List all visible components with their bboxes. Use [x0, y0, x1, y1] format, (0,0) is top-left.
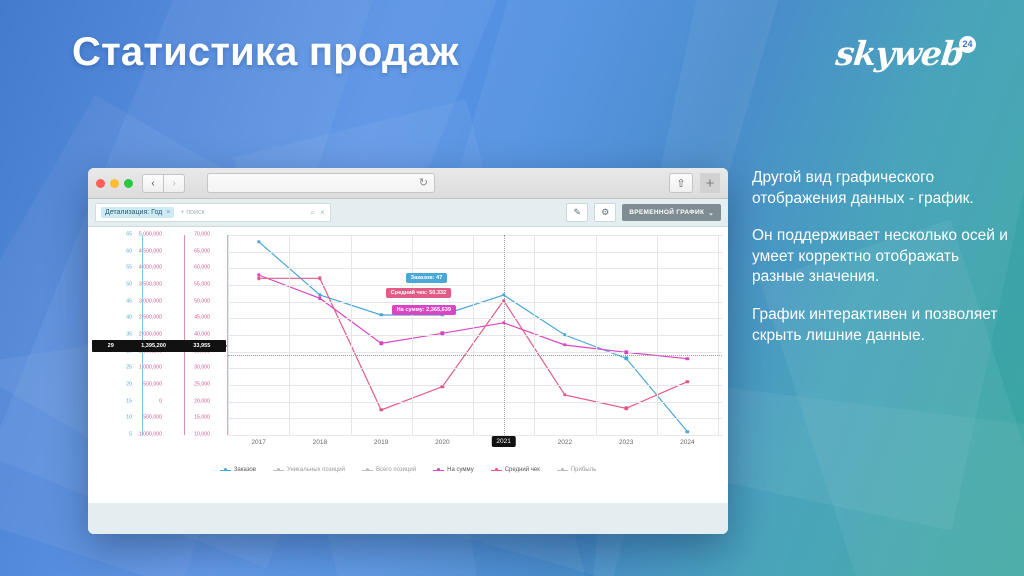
gridline-horizontal — [228, 402, 722, 403]
crosshair-value: 33,955 — [193, 343, 210, 349]
axis-tick-label: -1,000,000 — [137, 432, 162, 437]
axis-tick-label: 10 — [126, 416, 132, 421]
new-tab-icon[interactable]: + — [700, 173, 720, 193]
axis-tick-label: 60,000 — [194, 266, 210, 271]
logo-wordmark: skyweb — [834, 34, 965, 73]
gridline-horizontal — [228, 335, 722, 336]
gridline-vertical — [596, 235, 597, 435]
crosshair-value: 29 — [108, 343, 114, 349]
description-paragraph-3: График интерактивен и позволяет скрыть л… — [752, 305, 1010, 346]
view-mode-label: ВРЕМЕННОЙ ГРАФИК — [629, 209, 704, 216]
share-icon[interactable]: ⇧ — [669, 173, 693, 193]
x-axis-label[interactable]: 2017 — [251, 439, 265, 446]
x-axis-label[interactable]: 2019 — [374, 439, 388, 446]
gridline-vertical — [412, 235, 413, 435]
axis-tick-label: 65,000 — [194, 249, 210, 254]
gridline-horizontal — [228, 302, 722, 303]
chart-tooltip: На сумму: 2,365,639 — [392, 305, 456, 315]
x-axis-label-selected[interactable]: 2021 — [491, 436, 515, 447]
reload-icon[interactable]: ↻ — [419, 176, 428, 189]
close-window-icon[interactable] — [96, 179, 105, 188]
legend-item[interactable]: Всего позиций — [362, 467, 416, 473]
axis-tick-label: 0 — [159, 399, 162, 404]
page-title: Статистика продаж — [72, 30, 459, 75]
gridline-horizontal — [228, 385, 722, 386]
axis-tick-label: 45,000 — [194, 316, 210, 321]
plot-area: Заказов: 47Средний чек: 50,332На сумму: … — [228, 235, 722, 435]
axis-tick-label: 25 — [126, 366, 132, 371]
brand-logo: skyweb24 — [836, 34, 976, 73]
axis-tick-label: 500,000 — [143, 382, 162, 387]
gridline-vertical — [718, 235, 719, 435]
axis-tick-label: 40 — [126, 316, 132, 321]
axis-tick-label: 10,000 — [194, 432, 210, 437]
legend-label: Заказов — [234, 467, 256, 473]
gridline-vertical — [473, 235, 474, 435]
axis-tick-label: 55 — [126, 266, 132, 271]
window-footer — [88, 503, 728, 534]
legend-swatch — [557, 470, 568, 471]
axis-line-amount — [184, 235, 185, 435]
axis-tick-label: 60 — [126, 249, 132, 254]
axis-line-orders — [142, 235, 143, 435]
address-bar[interactable]: ↻ — [207, 173, 435, 193]
gear-icon[interactable]: ⚙ — [594, 203, 616, 222]
axis-tick-label: 65 — [126, 232, 132, 237]
crosshair-value-bar: 291,395,20033,955 — [92, 340, 226, 352]
x-axis-label[interactable]: 2018 — [313, 439, 327, 446]
app-toolbar: Детализация: Год × + поиск ⌕ × ✎ ⚙ ВРЕМЕ… — [88, 199, 728, 227]
back-icon[interactable]: ‹ — [142, 174, 164, 193]
filter-chip-detalization[interactable]: Детализация: Год × — [101, 207, 174, 218]
axis-tick-label: 5 — [129, 432, 132, 437]
axis-tick-label: 50,000 — [194, 299, 210, 304]
legend-item[interactable]: На сумму — [433, 467, 474, 473]
gridline-horizontal — [228, 252, 722, 253]
search-placeholder: + поиск — [180, 209, 204, 216]
crosshair-vertical — [504, 235, 505, 435]
legend-swatch — [491, 470, 502, 471]
minimize-window-icon[interactable] — [110, 179, 119, 188]
gridline-horizontal — [228, 268, 722, 269]
gridline-vertical — [228, 235, 229, 435]
gridline-horizontal — [228, 285, 722, 286]
axis-tick-label: 20,000 — [194, 399, 210, 404]
chart-tooltip: Средний чек: 50,332 — [386, 288, 452, 298]
legend-label: Уникальных позиций — [287, 467, 345, 473]
description-text: Другой вид графического отображения данн… — [752, 168, 1010, 363]
forward-icon[interactable]: › — [164, 174, 185, 193]
gridline-horizontal — [228, 235, 722, 236]
axis-tick-label: 15 — [126, 399, 132, 404]
axis-tick-label: 20 — [126, 382, 132, 387]
gridline-horizontal — [228, 418, 722, 419]
gridline-vertical — [289, 235, 290, 435]
gridline-horizontal — [228, 352, 722, 353]
x-axis-label[interactable]: 2023 — [619, 439, 633, 446]
crosshair-value: 1,395,200 — [141, 343, 166, 349]
filter-chip-label: Детализация: Год — [105, 209, 162, 216]
legend-label: Средний чек — [505, 467, 540, 473]
search-input[interactable]: Детализация: Год × + поиск ⌕ × — [95, 203, 331, 222]
gridline-vertical — [657, 235, 658, 435]
description-paragraph-2: Он поддерживает несколько осей и умеет к… — [752, 226, 1010, 288]
navigation-buttons: ‹ › — [142, 174, 185, 193]
axis-tick-label: 35 — [126, 332, 132, 337]
axis-tick-label: 40,000 — [194, 332, 210, 337]
x-axis-label[interactable]: 2020 — [435, 439, 449, 446]
axis-tick-label: 15,000 — [194, 416, 210, 421]
x-axis-label[interactable]: 2022 — [558, 439, 572, 446]
legend-item[interactable]: Заказов — [220, 467, 256, 473]
x-axis-label[interactable]: 2024 — [680, 439, 694, 446]
crosshair-horizontal — [228, 355, 722, 356]
window-controls — [96, 179, 133, 188]
legend-swatch — [362, 470, 373, 471]
browser-titlebar: ‹ › ↻ ⇧ + — [88, 168, 728, 199]
gridline-horizontal — [228, 318, 722, 319]
axis-tick-label: 45 — [126, 299, 132, 304]
chart-tooltip: Заказов: 47 — [406, 273, 448, 283]
browser-window: ‹ › ↻ ⇧ + Детализация: Год × + поиск ⌕ ×… — [88, 168, 728, 534]
legend-swatch — [273, 470, 284, 471]
legend-swatch — [220, 470, 231, 471]
chart-legend: ЗаказовУникальных позицийВсего позицийНа… — [88, 467, 728, 473]
gridline-vertical — [351, 235, 352, 435]
legend-item[interactable]: Уникальных позиций — [273, 467, 345, 473]
legend-label: Прибыль — [571, 467, 596, 473]
description-paragraph-1: Другой вид графического отображения данн… — [752, 168, 1010, 209]
axis-tick-label: -500,000 — [142, 416, 162, 421]
legend-label: Всего позиций — [376, 467, 416, 473]
gridline-vertical — [534, 235, 535, 435]
search-icon[interactable]: ⌕ — [310, 208, 314, 218]
edit-button[interactable]: ✎ — [566, 203, 588, 222]
axis-tick-label: 55,000 — [194, 282, 210, 287]
legend-label: На сумму — [447, 467, 474, 473]
line-chart: 6560555045403529252015105 5,000,0004,500… — [88, 227, 728, 503]
clear-icon[interactable]: × — [320, 208, 325, 218]
view-mode-dropdown[interactable]: ВРЕМЕННОЙ ГРАФИК ⌄ — [622, 204, 721, 221]
legend-swatch — [433, 470, 444, 471]
gridline-horizontal — [228, 368, 722, 369]
legend-item[interactable]: Прибыль — [557, 467, 596, 473]
search-actions: ⌕ × — [310, 208, 324, 218]
axis-tick-label: 25,000 — [194, 382, 210, 387]
x-axis: 20172018201920202021202220232024 — [228, 435, 722, 451]
close-icon[interactable]: × — [166, 209, 170, 216]
chevron-down-icon: ⌄ — [708, 209, 714, 217]
legend-item[interactable]: Средний чек — [491, 467, 540, 473]
chart-canvas: 6560555045403529252015105 5,000,0004,500… — [88, 227, 728, 503]
zoom-window-icon[interactable] — [124, 179, 133, 188]
axis-tick-label: 30,000 — [194, 366, 210, 371]
axis-tick-label: 70,000 — [194, 232, 210, 237]
axis-tick-label: 50 — [126, 282, 132, 287]
